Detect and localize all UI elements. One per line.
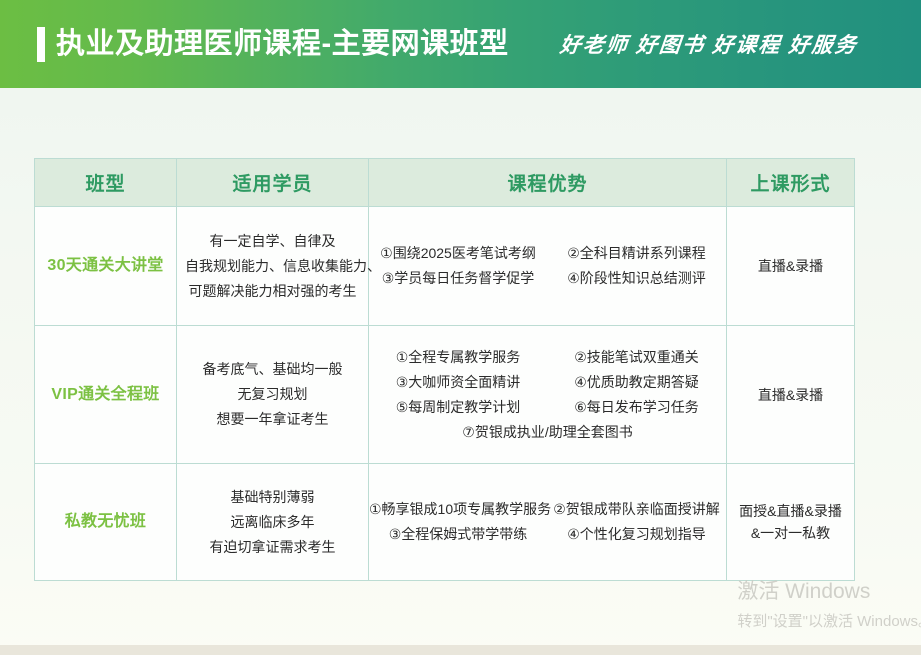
- audience-list: 备考底气、基础均一般 无复习规划 想要一年拿证考生: [177, 351, 368, 438]
- column-header-class-type: 班型: [35, 159, 177, 207]
- class-format-line: 直播&录播: [731, 255, 850, 277]
- course-table: 班型 适用学员 课程优势 上课形式 30天通关大讲堂 有一定自学、自律及 自我规…: [34, 158, 855, 581]
- class-format-list: 直播&录播: [727, 380, 854, 410]
- header-banner: 执业及助理医师课程-主要网课班型 好老师 好图书 好课程 好服务: [0, 0, 921, 88]
- table-header: 班型 适用学员 课程优势 上课形式: [35, 159, 855, 207]
- cell-class-format: 面授&直播&录播 &一对一私教: [727, 464, 855, 581]
- class-format-line: &一对一私教: [731, 522, 850, 544]
- table-header-row: 班型 适用学员 课程优势 上课形式: [35, 159, 855, 207]
- cell-class-name: VIP通关全程班: [35, 326, 177, 464]
- advantage-item: ①畅享银成10项专属教学服务: [369, 497, 547, 522]
- course-table-wrapper: 班型 适用学员 课程优势 上课形式 30天通关大讲堂 有一定自学、自律及 自我规…: [34, 158, 854, 581]
- windows-activation-watermark: 激活 Windows 转到"设置"以激活 Windows。: [737, 577, 921, 637]
- advantage-item: ②全科目精讲系列课程: [547, 241, 726, 266]
- cell-class-name: 私教无忧班: [35, 464, 177, 581]
- class-format-list: 面授&直播&录播 &一对一私教: [727, 496, 854, 548]
- advantage-item: ③学员每日任务督学促学: [369, 266, 547, 291]
- advantage-item: ①围绕2025医考笔试考纲: [369, 241, 547, 266]
- class-name-label: VIP通关全程班: [35, 383, 176, 407]
- column-header-target-students: 适用学员: [177, 159, 369, 207]
- advantage-list: ①围绕2025医考笔试考纲 ②全科目精讲系列课程 ③学员每日任务督学促学 ④阶段…: [369, 241, 726, 291]
- audience-line: 远离临床多年: [185, 510, 360, 535]
- watermark-line-2: 转到"设置"以激活 Windows。: [737, 607, 921, 637]
- watermark-line-1: 激活 Windows: [737, 577, 921, 607]
- table-row: VIP通关全程班 备考底气、基础均一般 无复习规划 想要一年拿证考生 ①全程专属…: [35, 326, 855, 464]
- class-name-label: 私教无忧班: [35, 510, 176, 534]
- advantage-list: ①全程专属教学服务 ②技能笔试双重通关 ③大咖师资全面精讲 ④优质助教定期答疑 …: [369, 345, 726, 445]
- audience-list: 有一定自学、自律及 自我规划能力、信息收集能力、 可题解决能力相对强的考生: [177, 223, 368, 310]
- cell-course-advantages: ①围绕2025医考笔试考纲 ②全科目精讲系列课程 ③学员每日任务督学促学 ④阶段…: [369, 207, 727, 326]
- advantage-item: ⑦贺银成执业/助理全套图书: [369, 420, 726, 445]
- advantage-item: ⑤每周制定教学计划: [369, 395, 547, 420]
- cell-target-students: 有一定自学、自律及 自我规划能力、信息收集能力、 可题解决能力相对强的考生: [177, 207, 369, 326]
- advantage-list: ①畅享银成10项专属教学服务 ②贺银成带队亲临面授讲解 ③全程保姆式带学带练 ④…: [369, 497, 726, 547]
- cell-course-advantages: ①全程专属教学服务 ②技能笔试双重通关 ③大咖师资全面精讲 ④优质助教定期答疑 …: [369, 326, 727, 464]
- audience-line: 有迫切拿证需求考生: [185, 535, 360, 560]
- advantage-item: ⑥每日发布学习任务: [547, 395, 726, 420]
- advantage-item: ④个性化复习规划指导: [547, 522, 726, 547]
- slide-page: 执业及助理医师课程-主要网课班型 好老师 好图书 好课程 好服务 班型 适用学员…: [0, 0, 921, 655]
- advantage-item: ④阶段性知识总结测评: [547, 266, 726, 291]
- table-row: 30天通关大讲堂 有一定自学、自律及 自我规划能力、信息收集能力、 可题解决能力…: [35, 207, 855, 326]
- advantage-item: ②技能笔试双重通关: [547, 345, 726, 370]
- column-header-class-format: 上课形式: [727, 159, 855, 207]
- audience-line: 无复习规划: [185, 382, 360, 407]
- cell-target-students: 备考底气、基础均一般 无复习规划 想要一年拿证考生: [177, 326, 369, 464]
- audience-line: 备考底气、基础均一般: [185, 357, 360, 382]
- audience-list: 基础特别薄弱 远离临床多年 有迫切拿证需求考生: [177, 479, 368, 566]
- class-format-line: 面授&直播&录播: [731, 500, 850, 522]
- audience-line: 基础特别薄弱: [185, 485, 360, 510]
- table-row: 私教无忧班 基础特别薄弱 远离临床多年 有迫切拿证需求考生 ①畅享银成10项专属…: [35, 464, 855, 581]
- audience-line: 自我规划能力、信息收集能力、: [185, 254, 360, 279]
- cell-course-advantages: ①畅享银成10项专属教学服务 ②贺银成带队亲临面授讲解 ③全程保姆式带学带练 ④…: [369, 464, 727, 581]
- page-title: 执业及助理医师课程-主要网课班型: [56, 24, 509, 64]
- column-header-course-advantages: 课程优势: [369, 159, 727, 207]
- bottom-strip: [0, 645, 921, 655]
- cell-class-format: 直播&录播: [727, 207, 855, 326]
- advantage-item: ③全程保姆式带学带练: [369, 522, 547, 547]
- advantage-item: ④优质助教定期答疑: [547, 370, 726, 395]
- audience-line: 有一定自学、自律及: [185, 229, 360, 254]
- cell-target-students: 基础特别薄弱 远离临床多年 有迫切拿证需求考生: [177, 464, 369, 581]
- cell-class-format: 直播&录播: [727, 326, 855, 464]
- class-name-label: 30天通关大讲堂: [35, 254, 176, 278]
- audience-line: 想要一年拿证考生: [185, 407, 360, 432]
- advantage-item: ①全程专属教学服务: [369, 345, 547, 370]
- class-format-list: 直播&录播: [727, 251, 854, 281]
- class-format-line: 直播&录播: [731, 384, 850, 406]
- advantage-item: ③大咖师资全面精讲: [369, 370, 547, 395]
- table-body: 30天通关大讲堂 有一定自学、自律及 自我规划能力、信息收集能力、 可题解决能力…: [35, 207, 855, 581]
- brand-slogan: 好老师 好图书 好课程 好服务: [559, 30, 860, 60]
- audience-line: 可题解决能力相对强的考生: [185, 279, 360, 304]
- title-accent-bar: [37, 27, 45, 62]
- advantage-item: ②贺银成带队亲临面授讲解: [547, 497, 726, 522]
- cell-class-name: 30天通关大讲堂: [35, 207, 177, 326]
